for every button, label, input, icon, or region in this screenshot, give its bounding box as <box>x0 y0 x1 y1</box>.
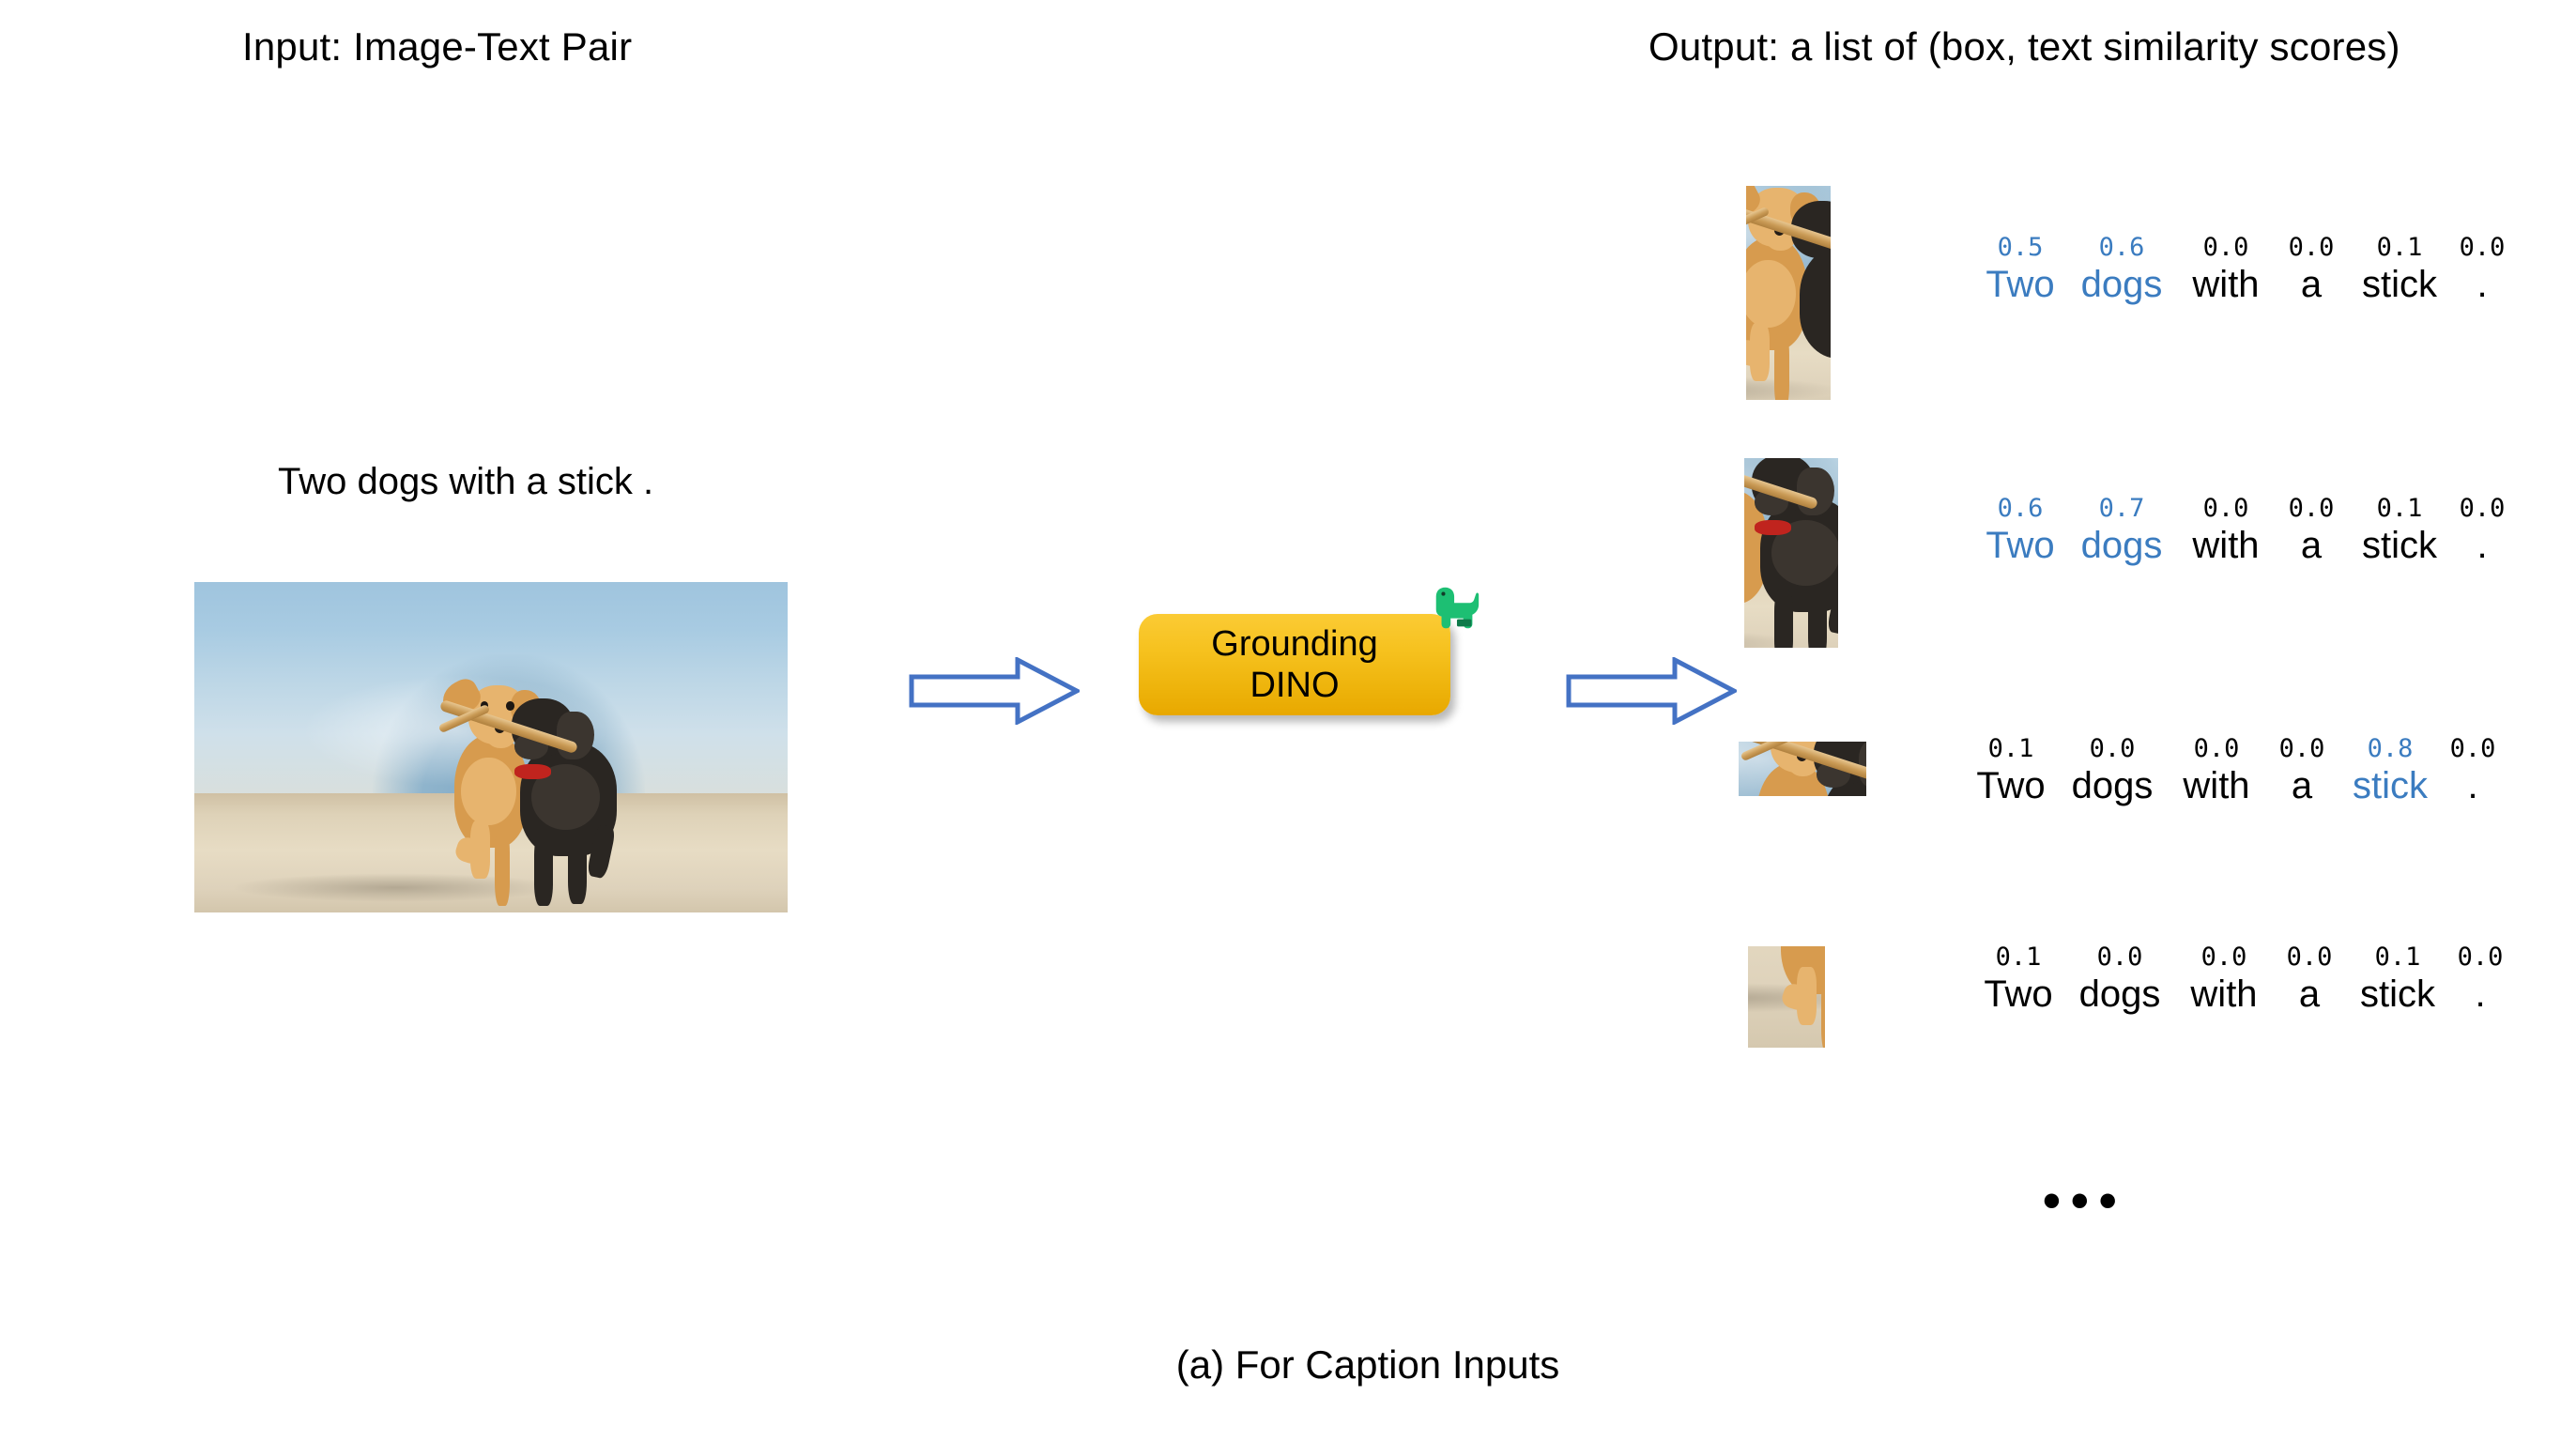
token-cell: Two <box>1970 973 2067 1016</box>
box-thumbnail-dog-legs <box>1748 946 1825 1048</box>
score-cell: 0.1 <box>1962 734 2060 763</box>
score-cell: 0.0 <box>2172 943 2276 972</box>
score-cell: 0.7 <box>2069 494 2174 523</box>
token-cell: a <box>2268 765 2336 807</box>
output-row: 0.60.70.00.00.10.0 Twodogswithastick. <box>1744 458 2561 655</box>
token-cell: Two <box>1971 525 2069 567</box>
figure-canvas: Input: Image-Text Pair Output: a list of… <box>0 0 2576 1441</box>
score-cell: 0.0 <box>2445 734 2501 763</box>
output-row: 0.10.00.00.00.10.0 Twodogswithastick. <box>1748 946 2574 1078</box>
token-cell: a <box>2276 973 2343 1016</box>
box-thumbnail-stick <box>1739 742 1866 796</box>
box-thumbnail-black-dog <box>1744 458 1838 648</box>
score-cell: 0.0 <box>2277 494 2345 523</box>
grounding-dino-box[interactable]: Grounding DINO <box>1139 614 1450 715</box>
figure-caption: (a) For Caption Inputs <box>0 1342 2576 1387</box>
token-cell: with <box>2174 525 2277 567</box>
token-cell: stick <box>2345 264 2454 306</box>
token-cell: with <box>2174 264 2277 306</box>
score-token-block: 0.10.00.00.00.80.0 Twodogswithastick. <box>1962 734 2501 807</box>
output-row: 0.50.60.00.00.10.0 Twodogswithastick. <box>1746 186 2563 411</box>
box-thumbnail-golden-dog <box>1746 186 1831 400</box>
caption-tokens: Twodogswithastick. <box>1971 264 2510 306</box>
similarity-scores: 0.10.00.00.00.10.0 <box>1970 943 2508 972</box>
score-cell: 0.0 <box>2060 734 2165 763</box>
output-header: Output: a list of (box, text similarity … <box>1648 24 2400 69</box>
model-name-line1: Grounding <box>1211 623 1377 665</box>
arrow-input-to-model <box>909 657 1080 725</box>
score-cell: 0.5 <box>1971 233 2069 262</box>
score-cell: 0.0 <box>2452 943 2508 972</box>
score-cell: 0.0 <box>2268 734 2336 763</box>
score-cell: 0.0 <box>2165 734 2268 763</box>
score-token-block: 0.10.00.00.00.10.0 Twodogswithastick. <box>1970 943 2508 1016</box>
token-cell: . <box>2445 765 2501 807</box>
input-image <box>194 582 788 912</box>
score-cell: 0.0 <box>2067 943 2172 972</box>
score-cell: 0.1 <box>2343 943 2452 972</box>
score-cell: 0.0 <box>2276 943 2343 972</box>
more-results-ellipsis: ••• <box>2043 1175 2127 1226</box>
score-cell: 0.0 <box>2174 494 2277 523</box>
score-cell: 0.1 <box>2345 233 2454 262</box>
output-row: 0.10.00.00.00.80.0 Twodogswithastick. <box>1739 742 2565 854</box>
input-header: Input: Image-Text Pair <box>242 24 632 69</box>
token-cell: dogs <box>2069 525 2174 567</box>
token-cell: stick <box>2345 525 2454 567</box>
caption-tokens: Twodogswithastick. <box>1971 525 2510 567</box>
figure-caption-text: (a) For Caption Inputs <box>1176 1342 1560 1387</box>
score-token-block: 0.50.60.00.00.10.0 Twodogswithastick. <box>1971 233 2510 306</box>
score-cell: 0.6 <box>2069 233 2174 262</box>
arrow-model-to-output <box>1566 657 1737 725</box>
token-cell: with <box>2165 765 2268 807</box>
input-caption-text: Two dogs with a stick . <box>278 461 653 503</box>
token-cell: dogs <box>2069 264 2174 306</box>
token-cell: with <box>2172 973 2276 1016</box>
score-cell: 0.0 <box>2454 494 2510 523</box>
token-cell: a <box>2277 525 2345 567</box>
token-cell: dogs <box>2067 973 2172 1016</box>
score-cell: 0.8 <box>2336 734 2445 763</box>
token-cell: . <box>2454 525 2510 567</box>
score-cell: 0.0 <box>2174 233 2277 262</box>
score-cell: 0.0 <box>2277 233 2345 262</box>
dinosaur-icon <box>1427 582 1485 636</box>
token-cell: stick <box>2336 765 2445 807</box>
token-cell: . <box>2452 973 2508 1016</box>
token-cell: Two <box>1971 264 2069 306</box>
beach-scene <box>194 582 788 912</box>
score-cell: 0.0 <box>2454 233 2510 262</box>
token-cell: a <box>2277 264 2345 306</box>
score-cell: 0.6 <box>1971 494 2069 523</box>
score-cell: 0.1 <box>2345 494 2454 523</box>
caption-tokens: Twodogswithastick. <box>1962 765 2501 807</box>
similarity-scores: 0.60.70.00.00.10.0 <box>1971 494 2510 523</box>
token-cell: dogs <box>2060 765 2165 807</box>
score-token-block: 0.60.70.00.00.10.0 Twodogswithastick. <box>1971 494 2510 567</box>
similarity-scores: 0.50.60.00.00.10.0 <box>1971 233 2510 262</box>
token-cell: . <box>2454 264 2510 306</box>
caption-tokens: Twodogswithastick. <box>1970 973 2508 1016</box>
token-cell: stick <box>2343 973 2452 1016</box>
token-cell: Two <box>1962 765 2060 807</box>
score-cell: 0.1 <box>1970 943 2067 972</box>
similarity-scores: 0.10.00.00.00.80.0 <box>1962 734 2501 763</box>
model-name-line2: DINO <box>1250 665 1340 706</box>
